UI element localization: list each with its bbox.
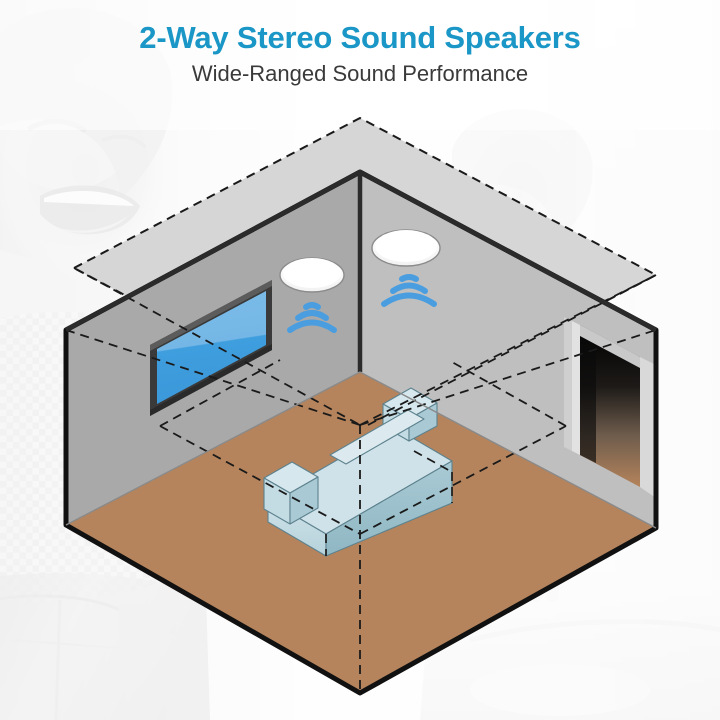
page-subtitle: Wide-Ranged Sound Performance: [0, 55, 720, 85]
isometric-room-diagram: [0, 0, 720, 720]
header: 2-Way Stereo Sound Speakers Wide-Ranged …: [0, 0, 720, 85]
ceiling-speaker-right: [372, 230, 440, 266]
ceiling-speaker-left: [280, 258, 344, 292]
page-title: 2-Way Stereo Sound Speakers: [0, 0, 720, 55]
screenshot-root: 2-Way Stereo Sound Speakers Wide-Ranged …: [0, 0, 720, 720]
